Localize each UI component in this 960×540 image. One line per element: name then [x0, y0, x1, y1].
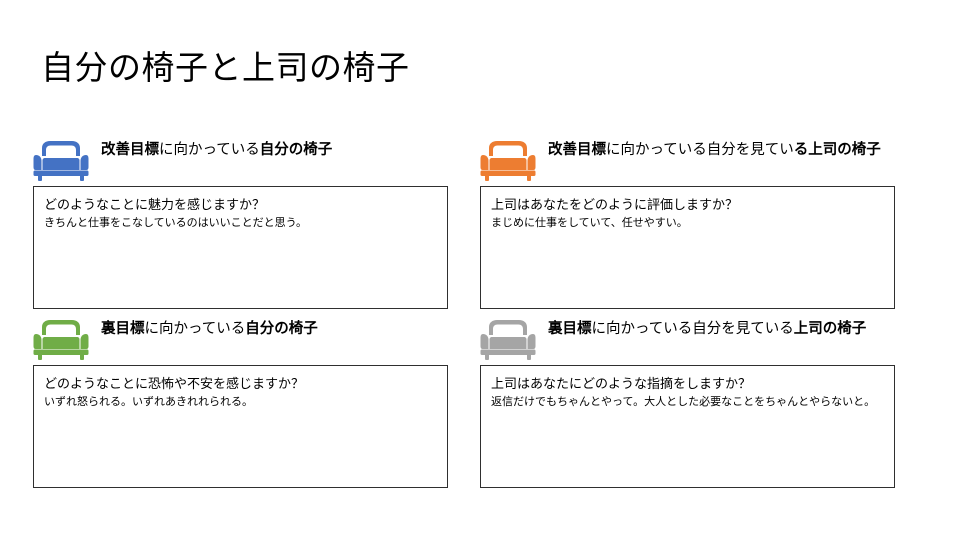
heading-regular: に向かっている自分を見てい: [606, 142, 794, 158]
heading-bold-first: 改善目標: [101, 142, 159, 158]
quadrant-bottom-right: 裏目標に向かっている自分を見ている上司の椅子 上司はあなたにどのような指摘をしま…: [480, 317, 895, 488]
answer-box[interactable]: どのようなことに恐怖や不安を感じますか？ いずれ怒られる。いずれあきれれられる。: [33, 365, 448, 488]
quadrant-header: 改善目標に向かっている自分を見ている上司の椅子: [480, 138, 895, 182]
answer-text: まじめに仕事をしていて、任せやすい。: [491, 215, 884, 231]
quadrant-top-right: 改善目標に向かっている自分を見ている上司の椅子 上司はあなたをどのように評価しま…: [480, 138, 895, 309]
sofa-icon: [480, 319, 536, 361]
quadrant-bottom-left: 裏目標に向かっている自分の椅子 どのようなことに恐怖や不安を感じますか？ いずれ…: [33, 317, 448, 488]
heading-bold-first: 改善目標: [548, 142, 606, 158]
quadrant-header-label: 裏目標に向かっている自分を見ている上司の椅子: [548, 317, 895, 340]
heading-bold-second: 上司の椅子: [794, 321, 867, 337]
answer-box[interactable]: 上司はあなたをどのように評価しますか？ まじめに仕事をしていて、任せやすい。: [480, 186, 895, 309]
quadrant-header: 裏目標に向かっている自分を見ている上司の椅子: [480, 317, 895, 361]
question-text: 上司はあなたにどのような指摘をしますか？: [491, 375, 884, 393]
sofa-icon-body: [34, 141, 89, 181]
heading-regular: に向かっている: [159, 142, 260, 158]
question-text: どのようなことに魅力を感じますか？: [44, 196, 437, 214]
question-text: どのようなことに恐怖や不安を感じますか？: [44, 375, 437, 393]
quadrant-top-left: 改善目標に向かっている自分の椅子 どのようなことに魅力を感じますか？ きちんと仕…: [33, 138, 448, 309]
page-title: 自分の椅子と上司の椅子: [41, 46, 911, 90]
heading-regular: に向かっている: [145, 321, 246, 337]
sofa-icon: [33, 319, 89, 361]
sofa-icon-body: [481, 320, 536, 360]
answer-text: いずれ怒られる。いずれあきれれられる。: [44, 394, 437, 410]
slide-canvas: 自分の椅子と上司の椅子 改善目標に向かっている自分の椅子 どのようなことに魅力を…: [0, 0, 960, 540]
answer-text: きちんと仕事をこなしているのはいいことだと思う。: [44, 215, 437, 231]
answer-box[interactable]: 上司はあなたにどのような指摘をしますか？ 返信だけでもちゃんとやって。大人とした…: [480, 365, 895, 488]
heading-bold-second: 自分の椅子: [245, 321, 318, 337]
heading-bold-second: 自分の椅子: [260, 142, 333, 158]
sofa-icon-body: [34, 320, 89, 360]
quadrant-header: 裏目標に向かっている自分の椅子: [33, 317, 448, 361]
sofa-icon-body: [481, 141, 536, 181]
quadrant-header-label: 裏目標に向かっている自分の椅子: [101, 317, 448, 340]
heading-regular: に向かっている自分を見ている: [592, 321, 794, 337]
heading-bold-first: 裏目標: [548, 321, 592, 337]
heading-bold-first: 裏目標: [101, 321, 145, 337]
heading-bold-second: る上司の椅子: [794, 142, 881, 158]
question-text: 上司はあなたをどのように評価しますか？: [491, 196, 884, 214]
quadrant-header: 改善目標に向かっている自分の椅子: [33, 138, 448, 182]
answer-text: 返信だけでもちゃんとやって。大人とした必要なことをちゃんとやらないと。: [491, 394, 884, 410]
quadrant-header-label: 改善目標に向かっている自分を見ている上司の椅子: [548, 138, 895, 161]
sofa-icon: [480, 140, 536, 182]
sofa-icon: [33, 140, 89, 182]
answer-box[interactable]: どのようなことに魅力を感じますか？ きちんと仕事をこなしているのはいいことだと思…: [33, 186, 448, 309]
quadrant-header-label: 改善目標に向かっている自分の椅子: [101, 138, 448, 161]
